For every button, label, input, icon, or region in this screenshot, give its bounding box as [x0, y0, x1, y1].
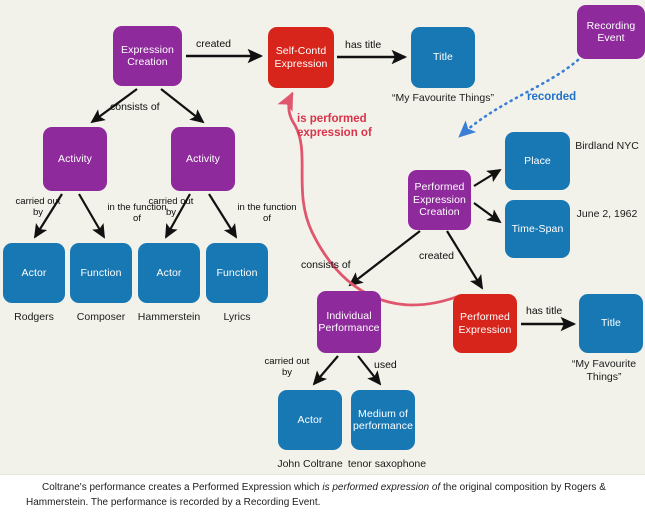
caption-lyrics: Lyrics [204, 311, 270, 324]
edge-label-in-function-of-right: in the function of [234, 202, 300, 224]
caption-coltrane: John Coltrane [268, 458, 352, 471]
diagram-canvas: Expression Creation Self-Contd Expressio… [0, 0, 645, 474]
caption-composer: Composer [68, 311, 134, 324]
edge-label-has-title-top: has title [345, 39, 381, 52]
node-activity-left[interactable]: Activity [43, 127, 107, 191]
edge-label-text: consists of [110, 101, 160, 113]
edge-label-text: created [196, 38, 231, 50]
node-individual-performance[interactable]: Individual Performance [317, 291, 381, 353]
edge-label-consists-of-bottom: consists of [301, 259, 351, 272]
node-label: Performed Expression [455, 311, 515, 336]
caption-part1: Coltrane's performance creates a Perform… [42, 482, 322, 493]
edge-label-consists-of-top: consists of [110, 101, 160, 114]
edge-label-recorded: recorded [527, 90, 576, 104]
diagram-page: Expression Creation Self-Contd Expressio… [0, 0, 645, 521]
caption-text: tenor saxophone [348, 458, 426, 470]
caption-hammerstein: Hammerstein [132, 311, 206, 324]
edge-label-created-bottom: created [419, 250, 454, 263]
edge-label-text: recorded [527, 91, 576, 103]
edge-consists-of-bottom [350, 231, 420, 285]
node-time-span[interactable]: Time-Span [505, 200, 570, 258]
edge-label-text: consists of [301, 259, 351, 271]
node-place[interactable]: Place [505, 132, 570, 190]
node-label: Self-Contd Expression [270, 45, 332, 70]
edge-label-text: carried out by [265, 356, 310, 378]
edge-carried-out-by-bottom [314, 356, 338, 384]
node-recording-event[interactable]: Recording Event [577, 5, 645, 59]
node-label: Recording Event [579, 20, 643, 45]
caption-text: Birdland NYC [575, 140, 639, 152]
node-label: Title [601, 317, 621, 330]
node-function-composer[interactable]: Function [70, 243, 132, 303]
node-label: Performed Expression Creation [410, 181, 469, 219]
edge-consists-of-right [161, 89, 203, 122]
edge-label-used: used [374, 359, 397, 372]
caption-text: Composer [77, 311, 125, 323]
node-performed-expression[interactable]: Performed Expression [453, 294, 517, 353]
caption-place: Birdland NYC [574, 140, 640, 153]
node-label: Title [433, 51, 453, 64]
node-label: Actor [297, 414, 322, 427]
figure-caption: Coltrane's performance creates a Perform… [26, 481, 619, 510]
caption-text: Lyrics [223, 311, 250, 323]
caption-saxophone: tenor saxophone [342, 458, 432, 471]
edge-label-text: carried out by [16, 196, 61, 218]
caption-text: “My Favourite Things” [572, 358, 636, 383]
node-label: Function [216, 267, 257, 280]
node-label: Actor [156, 267, 181, 280]
edge-label-text: in the function of [237, 202, 296, 224]
node-label: Actor [21, 267, 46, 280]
node-label: Activity [58, 153, 92, 166]
edge-label-text: used [374, 359, 397, 371]
edge-label-text: carried out by [149, 196, 194, 218]
caption-text: Rodgers [14, 311, 54, 323]
node-activity-right[interactable]: Activity [171, 127, 235, 191]
node-actor-hammerstein[interactable]: Actor [138, 243, 200, 303]
edge-label-carried-out-by-bottom: carried out by [261, 356, 313, 378]
edge-pec-timespan [474, 203, 500, 222]
edge-label-has-title-bottom: has title [526, 305, 562, 318]
caption-time-span: June 2, 1962 [574, 208, 640, 221]
caption-italic: is performed expression of [322, 482, 440, 493]
caption-title-performed: “My Favourite Things” [563, 358, 645, 384]
edge-in-function-of-right [209, 194, 236, 237]
edge-label-text: created [419, 250, 454, 262]
node-function-lyrics[interactable]: Function [206, 243, 268, 303]
node-actor-rodgers[interactable]: Actor [3, 243, 65, 303]
edge-label-carried-out-by-right: carried out by [146, 196, 196, 218]
caption-title-original: “My Favourite Things” [390, 92, 496, 105]
edge-label-text: has title [345, 39, 381, 51]
figure-caption-bar: Coltrane's performance creates a Perform… [0, 474, 645, 521]
node-title-performed[interactable]: Title [579, 294, 643, 353]
edge-label-is-performed-expression-of: is performed expression of [297, 112, 395, 140]
node-medium-of-performance[interactable]: Medium of performance [351, 390, 415, 450]
edge-label-text: has title [526, 305, 562, 317]
node-label: Activity [186, 153, 220, 166]
edge-label-text: is performed expression of [297, 113, 372, 139]
node-title-original[interactable]: Title [411, 27, 475, 88]
node-label: Individual Performance [318, 310, 379, 335]
node-label: Time-Span [512, 223, 564, 236]
node-label: Medium of performance [353, 408, 413, 433]
edge-pec-place [474, 170, 500, 186]
caption-text: Hammerstein [138, 311, 200, 323]
caption-text: John Coltrane [277, 458, 342, 470]
node-expression-creation[interactable]: Expression Creation [113, 26, 182, 86]
edge-in-function-of-left [79, 194, 104, 237]
node-label: Expression Creation [115, 44, 180, 69]
node-label: Place [524, 155, 551, 168]
caption-text: June 2, 1962 [577, 208, 638, 220]
edge-label-created-top: created [196, 38, 231, 51]
node-actor-coltrane[interactable]: Actor [278, 390, 342, 450]
node-label: Function [80, 267, 121, 280]
edge-label-carried-out-by-left: carried out by [13, 196, 63, 218]
node-performed-expression-creation[interactable]: Performed Expression Creation [408, 170, 471, 230]
caption-rodgers: Rodgers [1, 311, 67, 324]
node-self-contd-expression[interactable]: Self-Contd Expression [268, 27, 334, 88]
caption-text: “My Favourite Things” [392, 92, 494, 104]
